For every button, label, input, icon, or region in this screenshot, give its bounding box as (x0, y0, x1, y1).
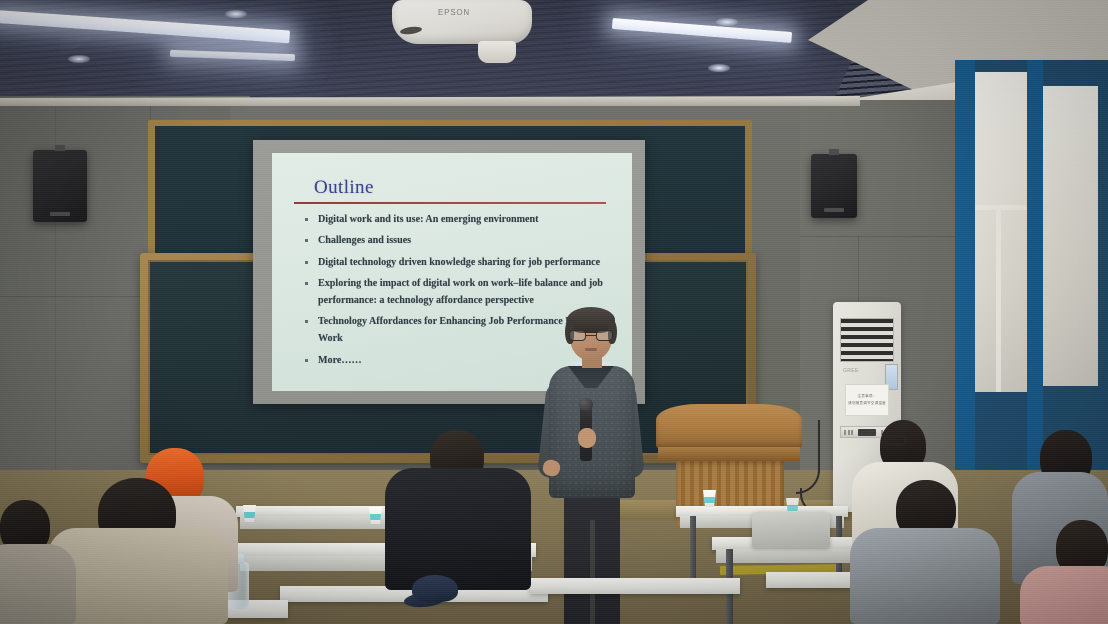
podium-lip (658, 447, 800, 461)
glasses-icon (884, 436, 906, 445)
speaker-brand-badge (824, 208, 844, 212)
desk (530, 578, 740, 594)
ac-display-icon (858, 429, 876, 436)
downlight-icon (716, 18, 738, 26)
projector-body: EPSON (392, 0, 532, 44)
slide-bullet: Challenges and issues (302, 233, 614, 250)
downlight-icon (225, 10, 247, 18)
air-conditioner-notice-label: 注意事项： 请勿随意调节空调温度 (845, 384, 889, 416)
downlight-icon (708, 64, 730, 72)
speaker-bracket (829, 149, 839, 155)
slide-title: Outline (314, 177, 614, 199)
projector-bracket (478, 41, 516, 63)
paper-cup (243, 505, 256, 522)
window-pane (975, 72, 1027, 392)
cap-crown (412, 575, 458, 602)
microphone-head-icon (579, 398, 593, 411)
presenter-mouth (585, 348, 597, 351)
baseball-cap (404, 575, 466, 607)
right-wall-speaker (811, 154, 857, 218)
speaker-brand-badge (50, 212, 70, 216)
attendee-coat (1020, 566, 1108, 624)
ac-notice-line-1: 注意事项： (858, 394, 877, 399)
window-pane (1042, 86, 1098, 386)
air-conditioner-brand: GREE (843, 368, 859, 374)
slide-bullet: Digital technology driven knowledge shar… (302, 255, 614, 272)
attendee-coat (385, 468, 531, 590)
speaker-bracket (55, 145, 65, 151)
paper-cup (369, 507, 382, 524)
podium-desktop (656, 404, 802, 448)
presenter-leg-gap (590, 520, 595, 624)
left-wall-speaker (33, 150, 87, 222)
slide-title-rule (294, 202, 606, 204)
paper-cup (703, 490, 716, 507)
window-post (1027, 60, 1043, 480)
slide-bullet: Digital work and its use: An emerging en… (302, 212, 614, 229)
air-conditioner-vent (840, 318, 894, 362)
projector-brand-label: EPSON (438, 8, 470, 17)
wall-panel-seam (800, 236, 970, 237)
desk-leg (690, 516, 696, 580)
attendee-coat (0, 544, 76, 624)
window-mullion (975, 205, 1027, 210)
presenter (540, 310, 644, 624)
projector-lens-icon (400, 26, 423, 36)
attendee-coat (850, 528, 1000, 624)
lecture-hall-scene: EPSON Outline Digital work and its use: … (0, 0, 1108, 624)
downlight-icon (68, 55, 90, 63)
ac-buttons-left[interactable] (844, 430, 853, 435)
ceiling-projector: EPSON (392, 0, 532, 60)
glasses-icon (569, 330, 613, 341)
window-mullion (996, 205, 1001, 392)
slide-bullet: Exploring the impact of digital work on … (302, 276, 614, 309)
window-post (955, 60, 975, 480)
chair-back (752, 512, 830, 548)
presenter-right-hand (578, 428, 596, 448)
ac-notice-line-2: 请勿随意调节空调温度 (848, 401, 886, 406)
